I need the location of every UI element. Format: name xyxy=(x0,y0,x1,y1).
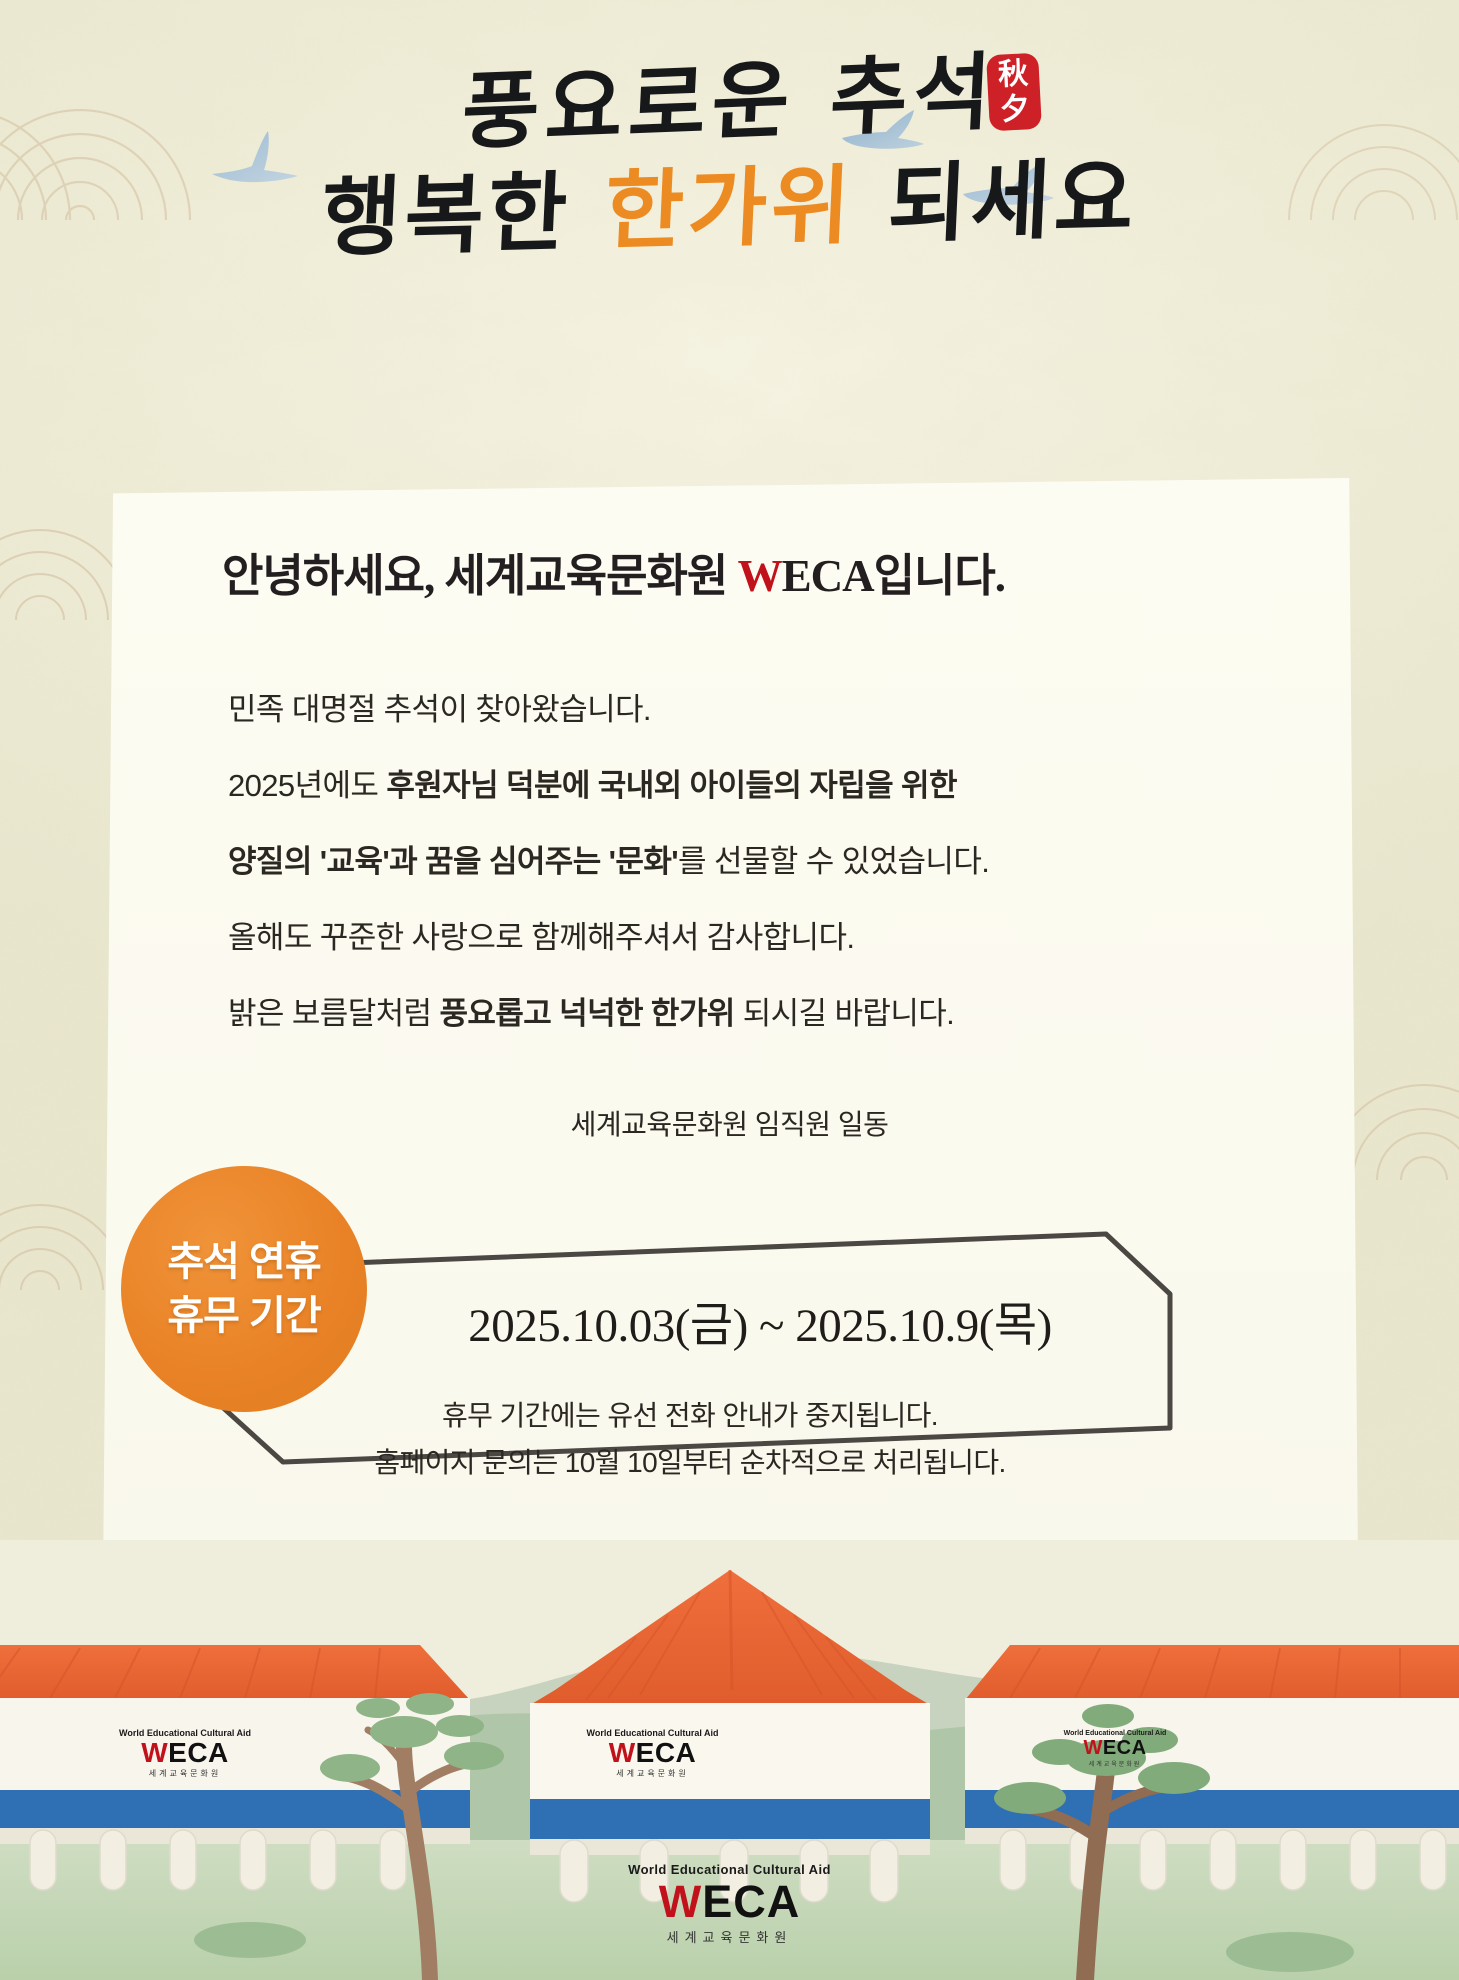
wall-logo-right-rest: ECA xyxy=(1103,1737,1147,1759)
logo-korean-name: 세계교육문화원 xyxy=(0,1927,1459,1946)
wall-logo-left-mark: WECA xyxy=(100,1738,270,1768)
logo-initial-w: W xyxy=(659,1876,702,1927)
badge-line-1: 추석 연휴 xyxy=(167,1235,320,1289)
title-line-1: 풍요로운 추석 xyxy=(0,30,1459,174)
wave-pattern-top-left xyxy=(0,0,260,230)
wall-logo-left-rest: ECA xyxy=(168,1737,229,1768)
message-segment: 2025년에도 xyxy=(228,768,386,803)
title-line-2-prefix: 행복한 xyxy=(319,162,607,269)
message-segment: 민족 대명절 추석이 찾아왔습니다. xyxy=(228,692,651,727)
notice-line-1: 휴무 기간에는 유선 전화 안내가 중지됩니다. xyxy=(240,1392,1140,1439)
wall-logo-right-w: W xyxy=(1083,1737,1102,1759)
badge-line-2: 휴무 기간 xyxy=(167,1289,320,1343)
message-segment: 를 선물할 수 있었습니다. xyxy=(678,844,989,879)
holiday-badge: 추석 연휴 휴무 기간 xyxy=(121,1166,367,1412)
message-line: 올해도 꾸준한 사랑으로 함께해주셔서 감사합니다. xyxy=(228,900,1248,976)
crane-icon xyxy=(840,108,926,156)
logo-tagline: World Educational Cultural Aid xyxy=(0,1862,1459,1877)
wall-logo-right-mark: WECA xyxy=(1040,1737,1190,1759)
holiday-notice: 휴무 기간에는 유선 전화 안내가 중지됩니다. 홈페이지 문의는 10월 10… xyxy=(240,1392,1140,1486)
greeting-heading: 안녕하세요, 세계교육문화원 WECA입니다. xyxy=(222,539,1005,604)
crane-icon xyxy=(960,160,1056,214)
chuseok-seal-stamp: 秋 夕 xyxy=(986,53,1042,132)
wall-logo-right: World Educational Cultural Aid WECA 세계교육… xyxy=(1040,1730,1190,1768)
seal-char-top: 秋 xyxy=(986,56,1040,94)
logo-wordmark: WECA xyxy=(0,1877,1459,1927)
wall-logo-left: World Educational Cultural Aid WECA 세계교육… xyxy=(100,1728,270,1779)
brand-rest: ECA입니다. xyxy=(782,551,1005,601)
title-line-2: 행복한 한가위 되세요 xyxy=(0,142,1459,277)
message-line: 2025년에도 후원자님 덕분에 국내외 아이들의 자립을 위한 xyxy=(228,748,1248,824)
greeting-prefix: 안녕하세요, 세계교육문화원 xyxy=(222,551,738,601)
message-segment-emphasis: 후원자님 덕분에 국내외 아이들의 자립을 위한 xyxy=(386,768,957,803)
wall-logo-center-w: W xyxy=(609,1737,636,1768)
wall-logo-center-mark: WECA xyxy=(545,1738,760,1768)
wall-logo-center: World Educational Cultural Aid WECA 세계교육… xyxy=(545,1728,760,1779)
notice-line-2: 홈페이지 문의는 10월 10일부터 순차적으로 처리됩니다. xyxy=(240,1439,1140,1486)
holiday-date-range: 2025.10.03(금) ~ 2025.10.9(목) xyxy=(380,1286,1140,1355)
wave-pattern-top-right xyxy=(1229,10,1459,230)
logo-wordmark-rest: ECA xyxy=(702,1876,800,1927)
message-body: 민족 대명절 추석이 찾아왔습니다.2025년에도 후원자님 덕분에 국내외 아… xyxy=(228,672,1248,1052)
brand-initial-w: W xyxy=(738,551,782,601)
wall-logo-left-korean: 세계교육문화원 xyxy=(100,1768,270,1779)
wall-logo-center-rest: ECA xyxy=(636,1737,697,1768)
signature-line: 세계교육문화원 임직원 일동 xyxy=(0,1103,1459,1143)
message-line: 양질의 '교육'과 꿈을 심어주는 '문화'를 선물할 수 있었습니다. xyxy=(228,824,1248,900)
wall-logo-left-w: W xyxy=(141,1737,168,1768)
message-segment: 올해도 꾸준한 사랑으로 함께해주셔서 감사합니다. xyxy=(228,920,854,955)
message-segment-emphasis: 양질의 '교육'과 꿈을 심어주는 '문화' xyxy=(228,844,678,879)
wall-logo-right-korean: 세계교육문화원 xyxy=(1040,1759,1190,1768)
title-line-2-suffix: 되세요 xyxy=(852,149,1140,256)
message-segment-emphasis: 풍요롭고 넉넉한 한가위 xyxy=(439,996,734,1031)
seal-char-bottom: 夕 xyxy=(988,91,1042,129)
weca-logo: World Educational Cultural Aid WECA 세계교육… xyxy=(0,1862,1459,1946)
wall-logo-right-tagline: World Educational Cultural Aid xyxy=(1040,1730,1190,1737)
title-line-2-accent: 한가위 xyxy=(603,156,857,262)
chuseok-holiday-poster: 풍요로운 추석 행복한 한가위 되세요 秋 夕 안녕하세요, 세계교육문화원 W… xyxy=(0,0,1459,1980)
crane-icon xyxy=(208,128,300,194)
message-segment: 되시길 바랍니다. xyxy=(735,996,954,1031)
poster-title: 풍요로운 추석 행복한 한가위 되세요 秋 夕 xyxy=(0,58,1459,259)
message-line: 민족 대명절 추석이 찾아왔습니다. xyxy=(228,672,1248,748)
message-line: 밝은 보름달처럼 풍요롭고 넉넉한 한가위 되시길 바랍니다. xyxy=(228,976,1248,1052)
message-segment: 밝은 보름달처럼 xyxy=(228,996,439,1031)
wall-logo-center-korean: 세계교육문화원 xyxy=(545,1768,760,1779)
